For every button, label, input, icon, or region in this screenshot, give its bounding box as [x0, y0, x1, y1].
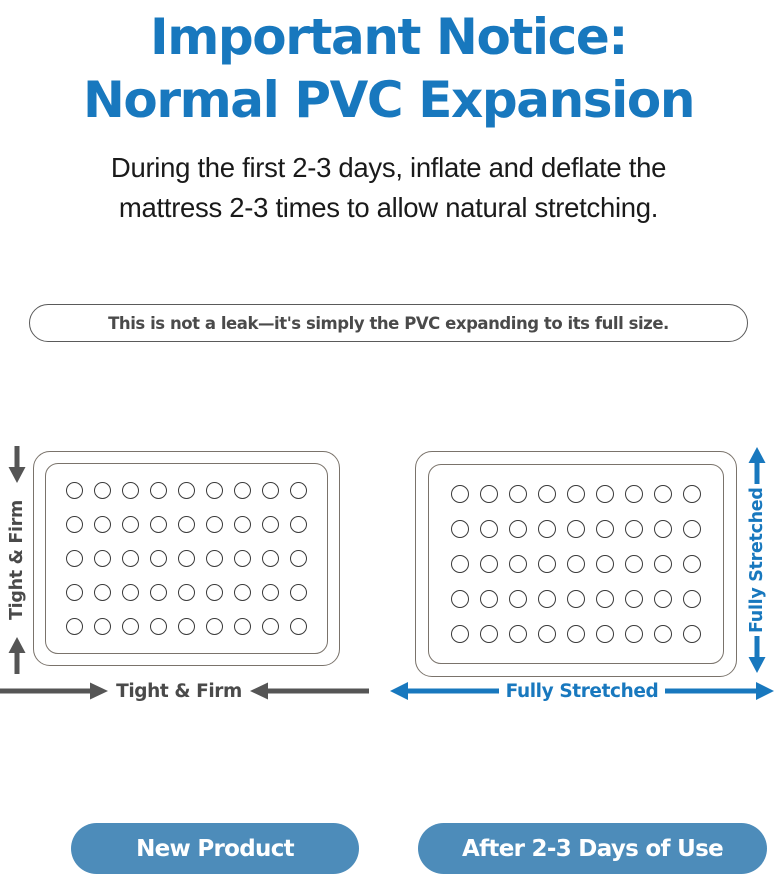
- air-cell-dot: [538, 625, 556, 643]
- right-horizontal-label: Fully Stretched: [506, 681, 659, 702]
- air-cell-dot: [538, 555, 556, 573]
- header: Important Notice: Normal PVC Expansion D…: [0, 0, 777, 228]
- left-horizontal-label: Tight & Firm: [116, 681, 242, 702]
- callout-text: This is not a leak—it's simply the PVC e…: [108, 314, 669, 333]
- air-cell-dot: [262, 618, 279, 635]
- air-cell-dot: [94, 618, 111, 635]
- air-cell-dot: [480, 520, 498, 538]
- air-cell-dot: [94, 482, 111, 499]
- air-cell-dot: [596, 625, 614, 643]
- air-cell-dot: [122, 584, 139, 601]
- air-cell-dot: [480, 485, 498, 503]
- air-cell-dot: [654, 555, 672, 573]
- comparison-diagrams: Tight & Firm Tight & Firm: [0, 440, 777, 715]
- arrow-down-icon: [6, 446, 28, 484]
- air-cell-dot: [509, 520, 527, 538]
- after-use-button[interactable]: After 2-3 Days of Use: [418, 823, 767, 874]
- air-cell-dot: [509, 625, 527, 643]
- air-cell-dot: [234, 618, 251, 635]
- left-horizontal-axis: Tight & Firm: [14, 674, 344, 708]
- air-cell-dot: [290, 550, 307, 567]
- air-cell-dot: [567, 520, 585, 538]
- air-cell-dot: [234, 550, 251, 567]
- air-cell-dot: [538, 485, 556, 503]
- air-cell-dot: [625, 590, 643, 608]
- air-cell-dot: [683, 590, 701, 608]
- air-cell-dot: [567, 555, 585, 573]
- air-cell-dot: [66, 618, 83, 635]
- air-cell-dot: [122, 550, 139, 567]
- air-cell-dot: [654, 590, 672, 608]
- air-cell-dot: [290, 584, 307, 601]
- subtitle-line-2: mattress 2-3 times to allow natural stre…: [0, 188, 777, 228]
- arrow-right-icon: [665, 680, 775, 702]
- air-cell-dot: [178, 550, 195, 567]
- air-cell-dot: [683, 625, 701, 643]
- mattress-after-use: [415, 451, 737, 677]
- air-cell-dot: [654, 485, 672, 503]
- air-cell-dot: [683, 555, 701, 573]
- air-cell-dot: [290, 516, 307, 533]
- air-cell-dot: [596, 590, 614, 608]
- air-cell-dot: [596, 520, 614, 538]
- right-vertical-label: Fully Stretched: [747, 484, 767, 636]
- air-cell-dot: [66, 550, 83, 567]
- right-horizontal-axis: Fully Stretched: [402, 674, 762, 708]
- subtitle-line-1: During the first 2-3 days, inflate and d…: [0, 148, 777, 188]
- air-cell-dot: [206, 550, 223, 567]
- air-cell-dot: [122, 482, 139, 499]
- air-cell-dot: [178, 618, 195, 635]
- air-cell-grid: [46, 464, 327, 653]
- air-cell-dot: [290, 618, 307, 635]
- air-cell-dot: [509, 590, 527, 608]
- air-cell-dot: [451, 590, 469, 608]
- air-cell-dot: [178, 584, 195, 601]
- arrow-right-icon: [0, 680, 109, 702]
- air-cell-dot: [262, 516, 279, 533]
- air-cell-dot: [567, 485, 585, 503]
- air-cell-dot: [66, 584, 83, 601]
- arrow-left-icon: [389, 680, 499, 702]
- air-cell-dot: [596, 555, 614, 573]
- air-cell-dot: [262, 584, 279, 601]
- air-cell-dot: [94, 516, 111, 533]
- air-cell-dot: [538, 520, 556, 538]
- air-cell-dot: [654, 625, 672, 643]
- air-cell-dot: [178, 516, 195, 533]
- mattress-inner-panel: [45, 463, 328, 654]
- air-cell-dot: [509, 485, 527, 503]
- air-cell-dot: [178, 482, 195, 499]
- air-cell-dot: [654, 520, 672, 538]
- air-cell-dot: [206, 516, 223, 533]
- right-vertical-axis: Fully Stretched: [742, 446, 772, 674]
- air-cell-dot: [625, 485, 643, 503]
- air-cell-dot: [596, 485, 614, 503]
- air-cell-dot: [625, 555, 643, 573]
- air-cell-grid: [429, 465, 723, 663]
- air-cell-dot: [234, 516, 251, 533]
- air-cell-dot: [480, 555, 498, 573]
- air-cell-dot: [94, 584, 111, 601]
- air-cell-dot: [538, 590, 556, 608]
- title-line-2: Normal PVC Expansion: [0, 69, 777, 132]
- air-cell-dot: [480, 590, 498, 608]
- air-cell-dot: [234, 482, 251, 499]
- air-cell-dot: [150, 516, 167, 533]
- left-vertical-label: Tight & Firm: [7, 484, 27, 636]
- air-cell-dot: [451, 555, 469, 573]
- air-cell-dot: [150, 584, 167, 601]
- air-cell-dot: [206, 618, 223, 635]
- air-cell-dot: [262, 550, 279, 567]
- air-cell-dot: [234, 584, 251, 601]
- arrow-left-icon: [249, 680, 369, 702]
- caption-buttons: New Product After 2-3 Days of Use: [0, 823, 777, 879]
- arrow-up-icon: [6, 636, 28, 674]
- air-cell-dot: [94, 550, 111, 567]
- air-cell-dot: [509, 555, 527, 573]
- air-cell-dot: [150, 482, 167, 499]
- air-cell-dot: [150, 550, 167, 567]
- air-cell-dot: [290, 482, 307, 499]
- air-cell-dot: [625, 520, 643, 538]
- air-cell-dot: [122, 618, 139, 635]
- mattress-new-product: [33, 451, 340, 666]
- air-cell-dot: [480, 625, 498, 643]
- air-cell-dot: [206, 482, 223, 499]
- air-cell-dot: [625, 625, 643, 643]
- air-cell-dot: [206, 584, 223, 601]
- air-cell-dot: [66, 516, 83, 533]
- page-title: Important Notice: Normal PVC Expansion: [0, 0, 777, 132]
- air-cell-dot: [262, 482, 279, 499]
- left-vertical-axis: Tight & Firm: [2, 446, 32, 674]
- air-cell-dot: [451, 485, 469, 503]
- air-cell-dot: [122, 516, 139, 533]
- air-cell-dot: [683, 520, 701, 538]
- arrow-up-icon: [746, 446, 768, 484]
- air-cell-dot: [150, 618, 167, 635]
- title-line-1: Important Notice:: [0, 6, 777, 69]
- air-cell-dot: [451, 625, 469, 643]
- air-cell-dot: [567, 625, 585, 643]
- air-cell-dot: [567, 590, 585, 608]
- air-cell-dot: [451, 520, 469, 538]
- air-cell-dot: [66, 482, 83, 499]
- new-product-button[interactable]: New Product: [71, 823, 359, 874]
- mattress-inner-panel: [428, 464, 724, 664]
- air-cell-dot: [683, 485, 701, 503]
- arrow-down-icon: [746, 636, 768, 674]
- callout-banner: This is not a leak—it's simply the PVC e…: [29, 304, 748, 342]
- page-subtitle: During the first 2-3 days, inflate and d…: [0, 132, 777, 228]
